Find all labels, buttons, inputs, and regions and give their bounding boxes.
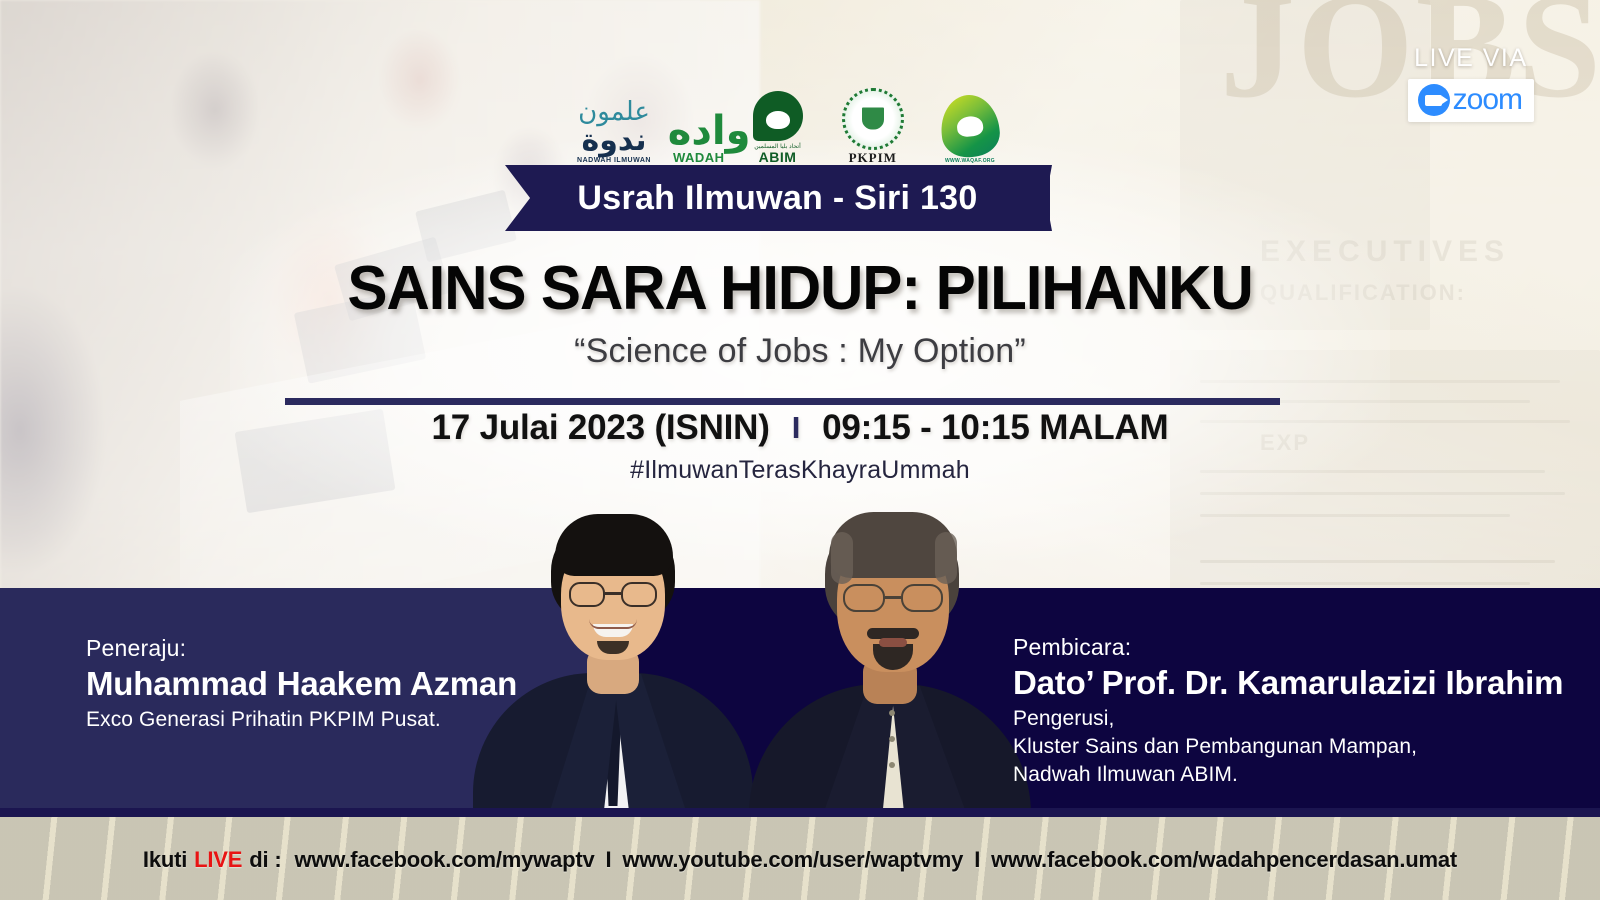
speaker-name: Dato’ Prof. Dr. Kamarulazizi Ibrahim [1013,662,1563,705]
logo-pkpim: PKPIM [825,88,920,164]
logo-abim: أتحاد بليا المسلمين ABIM [745,91,811,164]
event-hashtag: #IlmuwanTerasKhayraUmmah [0,456,1600,485]
moderator-role-label: Peneraju: [86,634,517,663]
moderator-org-line: Exco Generasi Prihatin PKPIM Pusat. [86,706,517,734]
speaker-info: Pembicara: Dato’ Prof. Dr. Kamarulazizi … [1013,633,1563,790]
event-date: 17 Julai 2023 (ISNIN) [432,408,770,448]
zoom-camera-icon [1418,84,1450,116]
footer-links-line: Ikuti LIVE di : www.facebook.com/mywaptv… [143,847,1457,873]
event-time: 09:15 - 10:15 MALAM [822,408,1168,448]
zoom-wordmark: zoom [1453,85,1522,115]
nadwah-caption: NADWAH ILMUWAN [575,157,653,164]
footer-suffix: di : [249,847,281,873]
footer-link-facebook-waptv[interactable]: www.facebook.com/mywaptv [294,847,594,873]
organisation-logos: علمون ندوة NADWAH ILMUWAN واده WADAH أتح… [575,34,1005,164]
pkpim-shield-icon [860,105,886,131]
footer-live-word: LIVE [194,847,242,873]
live-via-label: LIVE VIA [1408,44,1534,73]
series-ribbon: Usrah Ilmuwan - Siri 130 [505,165,1050,231]
poster-headline: SAINS SARA HIDUP: PILIHANKU [24,253,1576,324]
speaker-org-line-2: Kluster Sains dan Pembangunan Mampan, [1013,733,1563,761]
wadah-arabic-mark: واده [668,112,730,150]
moderator-name: Muhammad Haakem Azman [86,663,517,706]
moderator-info: Peneraju: Muhammad Haakem Azman Exco Gen… [86,634,517,734]
abim-symbol-icon [753,91,803,141]
live-via-block: LIVE VIA zoom [1408,44,1534,122]
footer-separator-2: I [974,847,980,873]
footer-separator-1: I [606,847,612,873]
wadah-caption: WADAH [668,151,730,164]
zoom-logo-badge: zoom [1408,79,1534,122]
footer-link-facebook-wadah[interactable]: www.facebook.com/wadahpencerdasan.umat [991,847,1457,873]
speaker-photo [745,498,1035,810]
pkpim-caption: PKPIM [825,151,920,164]
date-time-separator: I [792,410,800,446]
waqf-drop-icon [938,92,1002,160]
poster-subheadline: “Science of Jobs : My Option” [0,332,1600,371]
nadwah-arabic-top: علمون [575,99,653,125]
pkpim-seal-icon [842,88,904,150]
footer-link-youtube-waptvmy[interactable]: www.youtube.com/user/waptvmy [622,847,963,873]
waqf-caption: WWW.WAQAF.ORG [935,159,1005,164]
footer-top-strip [0,808,1600,817]
series-ribbon-text: Usrah Ilmuwan - Siri 130 [577,179,977,218]
logo-wadah: واده WADAH [668,112,730,164]
speaker-org-line-1: Pengerusi, [1013,705,1563,733]
abim-caption: ABIM [745,150,811,164]
nadwah-arabic-main: ندوة [575,125,653,157]
date-time-line: 17 Julai 2023 (ISNIN) I 09:15 - 10:15 MA… [0,408,1600,448]
footer-prefix: Ikuti [143,847,187,873]
poster-canvas: JOBS EXECUTIVES QUALIFICATION: EXP VACAN… [0,0,1600,900]
speaker-org-line-3: Nadwah Ilmuwan ABIM. [1013,761,1563,789]
footer-bar: Ikuti LIVE di : www.facebook.com/mywaptv… [0,808,1600,900]
logo-nadwah-ilmuwan: علمون ندوة NADWAH ILMUWAN [575,99,653,165]
logo-waqf: WWW.WAQAF.ORG [935,95,1005,164]
speaker-role-label: Pembicara: [1013,633,1563,662]
divider-rule [285,398,1280,405]
